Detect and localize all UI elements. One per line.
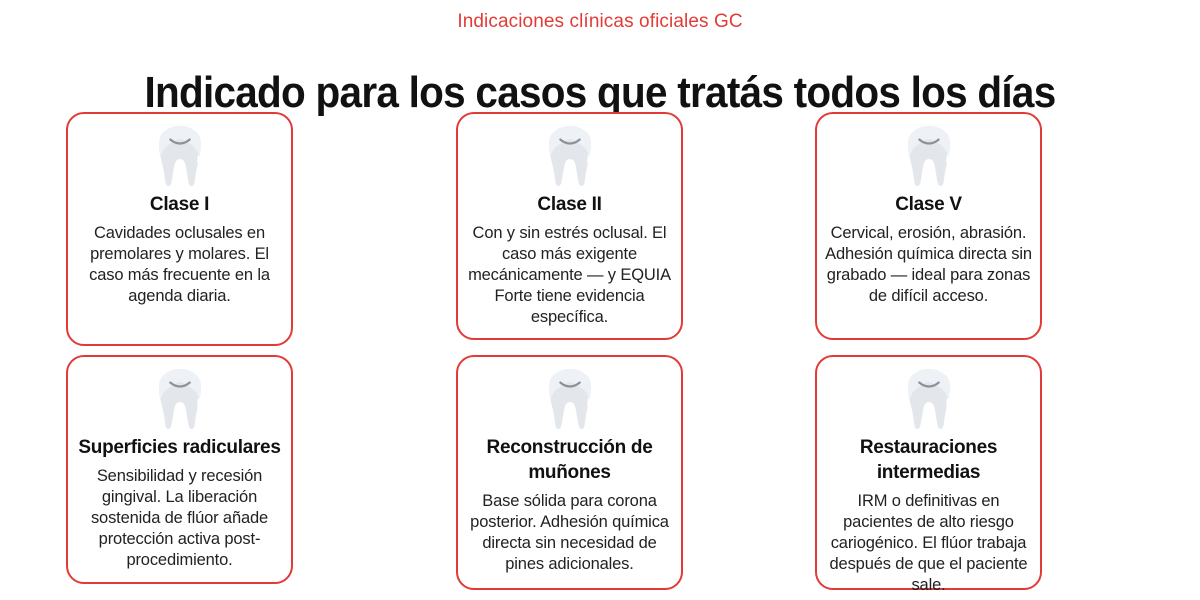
card-restauraciones-intermedias[interactable]: Restauraciones intermedias IRM o definit… — [815, 355, 1042, 590]
card-description: IRM o definitivas en pacientes de alto r… — [825, 491, 1032, 596]
tooth-icon — [547, 124, 593, 188]
card-clase-i[interactable]: Clase I Cavidades oclusales en premolare… — [66, 112, 293, 346]
card-description: Sensibilidad y recesión gingival. La lib… — [76, 466, 283, 571]
card-title: Restauraciones intermedias — [825, 435, 1032, 485]
tooth-icon — [157, 367, 203, 431]
card-reconstruccion-de-munones[interactable]: Reconstrucción de muñones Base sólida pa… — [456, 355, 683, 590]
card-title: Clase V — [825, 192, 1032, 217]
tooth-icon — [906, 124, 952, 188]
card-description: Con y sin estrés oclusal. El caso más ex… — [466, 223, 673, 328]
tooth-icon — [157, 124, 203, 188]
card-superficies-radiculares[interactable]: Superficies radiculares Sensibilidad y r… — [66, 355, 293, 584]
slide-root: Indicaciones clínicas oficiales GC Indic… — [0, 0, 1200, 600]
card-clase-v[interactable]: Clase V Cervical, erosión, abrasión. Adh… — [815, 112, 1042, 340]
eyebrow-label: Indicaciones clínicas oficiales GC — [0, 10, 1200, 34]
card-description: Base sólida para corona posterior. Adhes… — [466, 491, 673, 575]
card-title: Superficies radiculares — [64, 435, 295, 460]
card-title: Reconstrucción de muñones — [466, 435, 673, 485]
card-title: Clase I — [76, 192, 283, 217]
card-title: Clase II — [466, 192, 673, 217]
tooth-icon — [906, 367, 952, 431]
card-description: Cavidades oclusales en premolares y mola… — [76, 223, 283, 307]
card-clase-ii[interactable]: Clase II Con y sin estrés oclusal. El ca… — [456, 112, 683, 340]
card-description: Cervical, erosión, abrasión. Adhesión qu… — [825, 223, 1032, 307]
indications-grid: Clase I Cavidades oclusales en premolare… — [0, 112, 1200, 598]
tooth-icon — [547, 367, 593, 431]
